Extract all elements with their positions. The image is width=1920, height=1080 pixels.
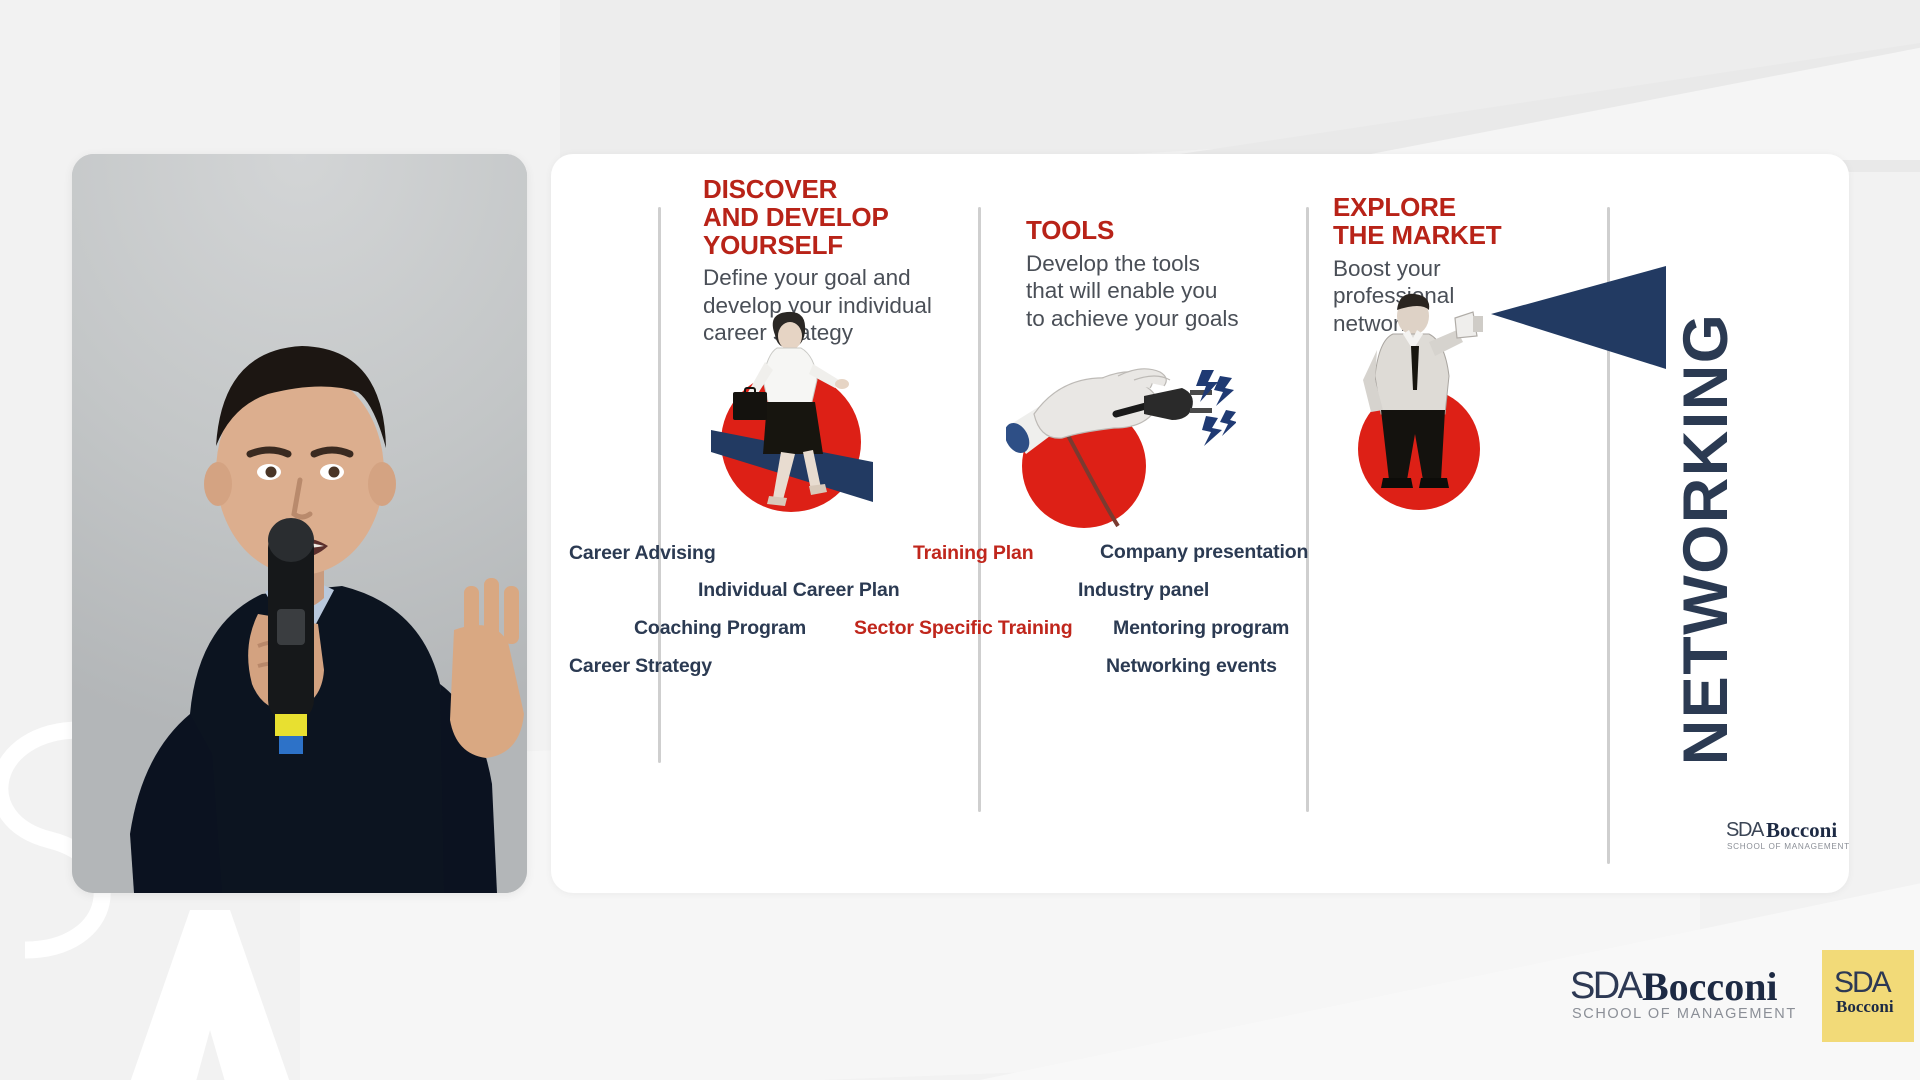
column-divider-1 [658, 207, 661, 763]
column-explore-title: EXPLORE THE MARKET [1333, 194, 1633, 250]
networking-label: NETWORKING [1670, 313, 1742, 765]
service-company-presentation[interactable]: Company presentation [1100, 541, 1308, 564]
speaker-illustration [72, 154, 527, 893]
badge-bocconi-text: Bocconi [1836, 997, 1894, 1016]
presentation-slide: DISCOVER AND DEVELOP YOURSELF Define you… [551, 154, 1849, 893]
service-sector-specific-training[interactable]: Sector Specific Training [854, 617, 1073, 640]
megaphone-cone [1491, 266, 1666, 369]
column-tools-subtitle: Develop the tools that will enable you t… [1026, 250, 1326, 332]
logo-sda-text: SDA [1726, 819, 1765, 841]
column-discover-title: DISCOVER AND DEVELOP YOURSELF [703, 176, 1003, 259]
column-tools-title: TOOLS [1026, 217, 1326, 245]
service-mentoring-program[interactable]: Mentoring program [1113, 617, 1289, 640]
service-individual-career-plan[interactable]: Individual Career Plan [698, 579, 900, 602]
footer-logo-tagline-text: SCHOOL OF MANAGEMENT [1572, 1006, 1797, 1022]
networking-banner: NETWORKING [1646, 154, 1766, 893]
service-coaching-program[interactable]: Coaching Program [634, 617, 806, 640]
badge-sda-text: SDA [1834, 966, 1892, 999]
service-networking-events[interactable]: Networking events [1106, 655, 1277, 678]
logo-tagline-text: SCHOOL OF MANAGEMENT [1727, 842, 1849, 851]
speaker-video-tile[interactable] [72, 154, 527, 893]
service-career-advising[interactable]: Career Advising [569, 542, 716, 565]
explore-illustration [1341, 284, 1511, 514]
footer-logo-bocconi-text: Bocconi [1642, 964, 1778, 1009]
logo-bocconi-text: Bocconi [1766, 818, 1837, 842]
service-training-plan[interactable]: Training Plan [913, 542, 1034, 565]
service-industry-panel[interactable]: Industry panel [1078, 579, 1209, 602]
tools-illustration [1006, 354, 1236, 534]
sda-bocconi-badge: SDA Bocconi [1822, 950, 1914, 1042]
service-career-strategy[interactable]: Career Strategy [569, 655, 712, 678]
discover-illustration [711, 302, 911, 517]
footer-logo-sda-text: SDA [1570, 965, 1644, 1007]
footer-sda-bocconi-logo: SDA Bocconi SCHOOL OF MANAGEMENT [1570, 962, 1820, 1029]
slide-sda-bocconi-logo: SDA Bocconi SCHOOL OF MANAGEMENT [1726, 817, 1849, 858]
column-tools: TOOLS Develop the tools that will enable… [1026, 217, 1326, 332]
